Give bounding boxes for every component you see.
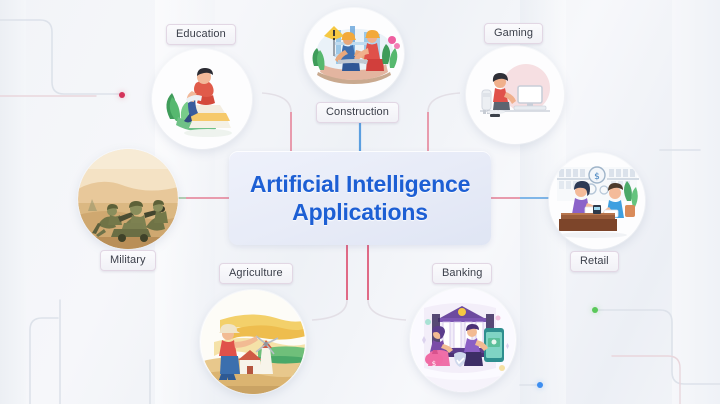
- gaming-illustration: [466, 46, 564, 144]
- background-band-left: [0, 0, 26, 404]
- bubble-gaming[interactable]: [466, 46, 564, 144]
- bubble-retail[interactable]: $: [549, 153, 645, 249]
- bubble-construction[interactable]: [304, 8, 404, 100]
- bubble-military[interactable]: [78, 149, 178, 249]
- svg-text:$: $: [432, 360, 436, 368]
- label-military[interactable]: Military: [100, 250, 156, 271]
- label-education[interactable]: Education: [166, 24, 236, 45]
- bubble-agriculture[interactable]: [200, 290, 306, 394]
- retail-illustration: $: [549, 153, 645, 249]
- bubble-education[interactable]: [152, 49, 252, 149]
- label-gaming[interactable]: Gaming: [484, 23, 543, 44]
- label-banking[interactable]: Banking: [432, 263, 492, 284]
- label-agriculture[interactable]: Agriculture: [219, 263, 293, 284]
- label-construction[interactable]: Construction: [316, 102, 399, 123]
- military-illustration: [78, 149, 178, 249]
- red-dot: [119, 92, 125, 98]
- banking-illustration: $: [410, 288, 516, 392]
- center-node[interactable]: Artificial Intelligence Applications: [229, 151, 491, 245]
- agriculture-illustration: [200, 290, 306, 394]
- construction-illustration: [304, 8, 404, 100]
- background-band-far-right: [672, 0, 720, 404]
- infographic-canvas: Artificial Intelligence Applications: [0, 0, 720, 404]
- blue-dot: [537, 382, 543, 388]
- svg-text:$: $: [594, 172, 600, 182]
- page-title: Artificial Intelligence Applications: [250, 170, 470, 226]
- education-illustration: [152, 49, 252, 149]
- bubble-banking[interactable]: $: [410, 288, 516, 392]
- green-dot: [592, 307, 598, 313]
- label-retail[interactable]: Retail: [570, 251, 619, 272]
